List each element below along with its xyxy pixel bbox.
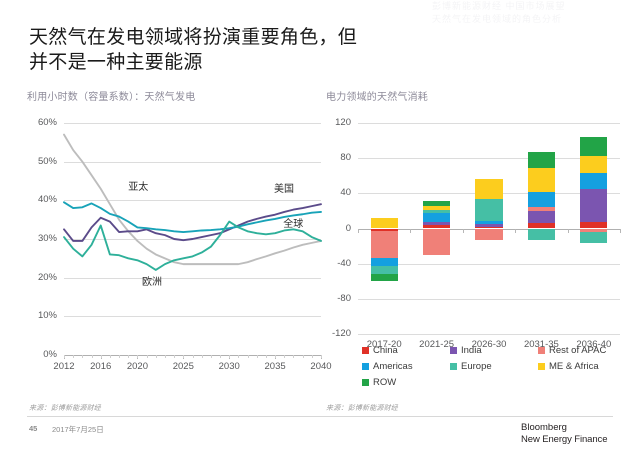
page-number: 45: [29, 424, 37, 433]
bar-segment-Europe: [423, 210, 450, 213]
bar-chart-ytick: -80: [326, 293, 351, 304]
legend-label: ME & Africa: [549, 361, 599, 372]
legend-swatch-icon: [450, 347, 457, 354]
bar-segment-Americas: [580, 173, 607, 189]
bar-chart-tickmark: [568, 229, 569, 233]
bar-segment-Rest of APAC: [528, 207, 555, 211]
page-title: 天然气在发电领域将扮演重要角色，但 并不是一种主要能源: [29, 25, 469, 75]
legend-item-ME & Africa[interactable]: ME & Africa: [538, 361, 626, 372]
legend-item-China[interactable]: China: [362, 345, 450, 356]
source-note-right: 来源：彭博新能源财经: [326, 403, 398, 413]
bar-segment-Rest of APAC: [475, 229, 502, 240]
bar-segment-Rest of APAC: [371, 231, 398, 257]
legend-item-ROW[interactable]: ROW: [362, 377, 450, 388]
bar-segment-ROW: [423, 201, 450, 205]
watermark-line-1: 彭博新能源财经 中国市场展望: [432, 0, 640, 13]
bar-group-2017-20: [371, 123, 398, 334]
bar-chart-panel: 电力领域的天然气消耗 12080400-40-80-1202017-202021…: [326, 88, 626, 360]
line-chart-plot: 0%10%20%30%40%50%60%20122016202020252030…: [27, 115, 327, 385]
bar-segment-ROW: [371, 274, 398, 281]
brand-line-1: Bloomberg: [521, 422, 607, 434]
page-title-line-1: 天然气在发电领域将扮演重要角色，但: [29, 25, 469, 50]
legend-label: Europe: [461, 361, 492, 372]
bar-segment-ME & Africa: [528, 168, 555, 193]
legend-item-India[interactable]: India: [450, 345, 538, 356]
line-series-亚太: [64, 135, 321, 265]
bar-segment-Europe: [580, 232, 607, 243]
legend-swatch-icon: [362, 379, 369, 386]
legend-label: China: [373, 345, 398, 356]
bar-chart-ytick: -120: [326, 328, 351, 339]
bar-segment-Europe: [371, 266, 398, 274]
bar-chart-plot: 12080400-40-80-1202017-202021-252026-302…: [326, 115, 626, 360]
line-series-label: 全球: [283, 215, 303, 230]
bar-group-2031-35: [528, 123, 555, 334]
line-series-label: 美国: [274, 180, 294, 195]
legend-label: Rest of APAC: [549, 345, 606, 356]
footer-date: 2017年7月25日: [52, 424, 104, 435]
bar-chart-tickmark: [620, 229, 621, 233]
legend-swatch-icon: [362, 363, 369, 370]
bar-segment-Europe: [475, 199, 502, 221]
bar-segment-ROW: [528, 152, 555, 168]
bar-chart-ytick: 120: [326, 117, 351, 128]
line-series-label: 亚太: [128, 178, 148, 193]
bar-group-2036-40: [580, 123, 607, 334]
line-series-label: 欧洲: [142, 273, 162, 288]
bar-chart-legend: China India Rest of APAC Americas Europe…: [362, 345, 632, 393]
bar-chart-ytick: 40: [326, 187, 351, 198]
legend-label: India: [461, 345, 482, 356]
legend-item-Rest of APAC[interactable]: Rest of APAC: [538, 345, 626, 356]
bar-chart-gridline: [358, 334, 620, 335]
source-note-left: 来源：彭博新能源财经: [29, 403, 101, 413]
legend-label: Americas: [373, 361, 413, 372]
bar-segment-ME & Africa: [580, 156, 607, 174]
legend-swatch-icon: [362, 347, 369, 354]
bar-chart-ytick: -40: [326, 258, 351, 269]
bar-chart-title: 电力领域的天然气消耗: [326, 88, 626, 103]
bar-segment-Americas: [371, 258, 398, 267]
bar-chart-tickmark: [463, 229, 464, 233]
bar-segment-Americas: [528, 192, 555, 207]
bar-segment-Americas: [423, 213, 450, 223]
brand-line-2: New Energy Finance: [521, 434, 607, 446]
legend-item-Europe[interactable]: Europe: [450, 361, 538, 372]
bar-segment-ROW: [580, 137, 607, 155]
footer-divider: [27, 416, 613, 417]
bar-segment-India: [475, 224, 502, 227]
legend-swatch-icon: [450, 363, 457, 370]
bar-group-2021-25: [423, 123, 450, 334]
bar-segment-Europe: [528, 229, 555, 240]
bar-segment-India: [580, 189, 607, 222]
bar-chart-ytick: 80: [326, 152, 351, 163]
line-chart-title: 利用小时数（容量系数）：天然气发电: [27, 88, 327, 103]
legend-swatch-icon: [538, 347, 545, 354]
bar-segment-ME & Africa: [423, 206, 450, 210]
page-title-line-2: 并不是一种主要能源: [29, 50, 469, 75]
bar-segment-India: [528, 211, 555, 223]
bar-segment-India: [423, 222, 450, 225]
bar-group-2026-30: [475, 123, 502, 334]
bar-segment-ME & Africa: [475, 179, 502, 198]
watermark: 彭博新能源财经 中国市场展望 天然气在发电领域的角色分析: [432, 0, 640, 26]
bar-segment-Rest of APAC: [423, 229, 450, 255]
bar-segment-Americas: [475, 221, 502, 225]
bar-chart-tickmark: [358, 229, 359, 233]
line-chart-panel: 利用小时数（容量系数）：天然气发电 0%10%20%30%40%50%60%20…: [27, 88, 327, 385]
bar-chart-tickmark: [515, 229, 516, 233]
bar-chart-tickmark: [410, 229, 411, 233]
legend-label: ROW: [373, 377, 396, 388]
bar-segment-ME & Africa: [371, 218, 398, 229]
bar-chart-ytick: 0: [326, 223, 351, 234]
legend-item-Americas[interactable]: Americas: [362, 361, 450, 372]
bloomberg-brand: Bloomberg New Energy Finance: [521, 422, 607, 445]
legend-swatch-icon: [538, 363, 545, 370]
